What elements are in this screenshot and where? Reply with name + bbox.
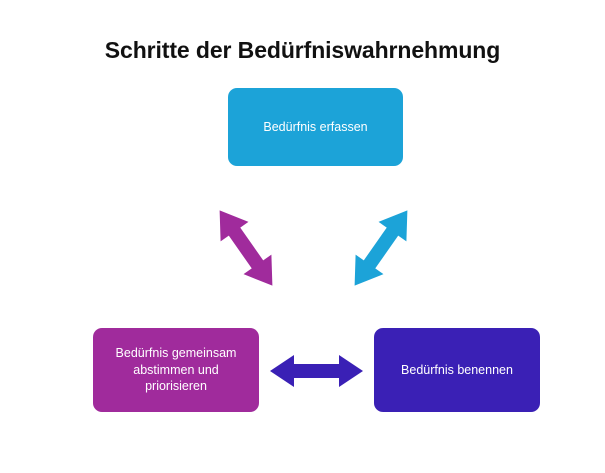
page-title: Schritte der Bedürfniswahrnehmung xyxy=(0,36,605,64)
diagram-canvas: Schritte der Bedürfniswahrnehmung Bedürf… xyxy=(0,0,605,473)
diagram-node-label: Bedürfnis erfassen xyxy=(263,119,367,136)
diagram-node-abstimmen[interactable]: Bedürfnis gemeinsam abstimmen und priori… xyxy=(93,328,259,412)
double-headed-arrow-icon-bottom-horizontal xyxy=(268,352,365,390)
diagram-node-label: Bedürfnis benennen xyxy=(401,362,513,379)
double-headed-arrow-icon-left-diagonal xyxy=(210,200,282,296)
double-headed-arrow-icon-right-diagonal xyxy=(345,200,417,296)
diagram-node-erfassen[interactable]: Bedürfnis erfassen xyxy=(228,88,403,166)
diagram-node-label: Bedürfnis gemeinsam abstimmen und priori… xyxy=(103,345,249,395)
diagram-node-benennen[interactable]: Bedürfnis benennen xyxy=(374,328,540,412)
